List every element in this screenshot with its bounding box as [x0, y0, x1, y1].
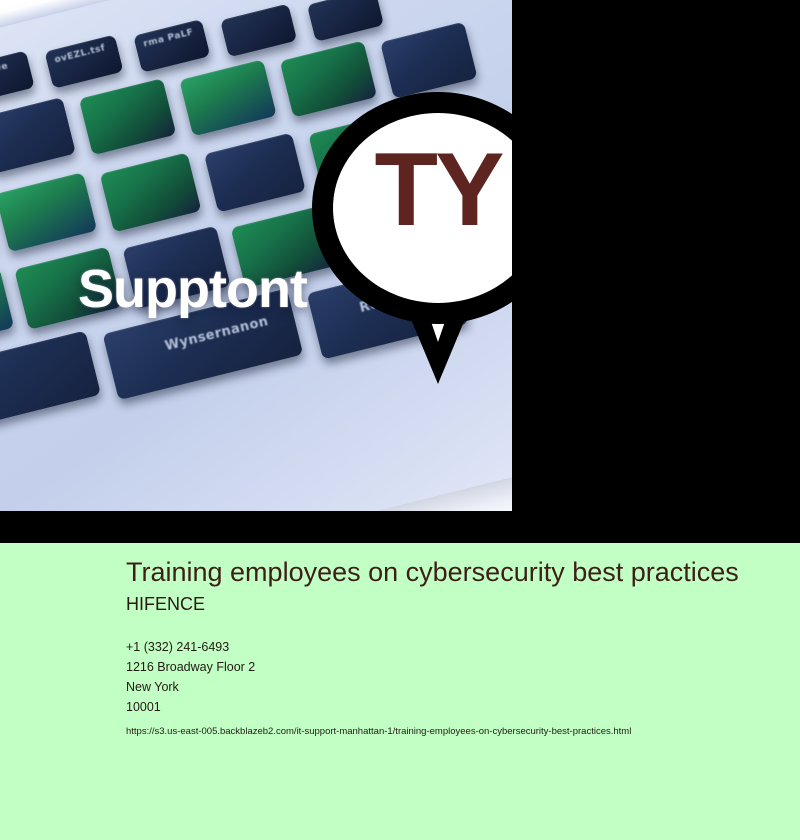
keycap-label: fc-RdUe — [0, 61, 9, 81]
keycap-label: Wynsernanon — [164, 314, 270, 354]
keyboard-key — [307, 0, 384, 42]
hero-image-area: Rufaup fc-RdUe ovEZL.tsf rma PaLF — [0, 0, 800, 543]
info-panel: Training employees on cybersecurity best… — [0, 543, 800, 840]
keycap-label: ovEZL.tsf — [54, 43, 107, 65]
contact-block: +1 (332) 241-6493 1216 Broadway Floor 2 … — [126, 637, 760, 717]
keyboard-key — [0, 172, 97, 252]
keyboard-key — [204, 133, 306, 213]
hero-overlay-word: Supptont — [78, 258, 307, 320]
letterbox-right — [512, 0, 800, 543]
keyboard-photo: Rufaup fc-RdUe ovEZL.tsf rma PaLF — [0, 0, 512, 511]
info-panel-content: Training employees on cybersecurity best… — [126, 557, 760, 739]
contact-city: New York — [126, 677, 760, 697]
keycap-label: rma PaLF — [142, 27, 194, 49]
keyboard-key — [79, 78, 176, 155]
keyboard-key — [220, 4, 297, 58]
source-url[interactable]: https://s3.us-east-005.backblazeb2.com/i… — [126, 725, 760, 739]
keyboard-key — [0, 97, 76, 174]
contact-zip: 10001 — [126, 697, 760, 717]
keyboard-key — [0, 267, 14, 350]
keyboard-key — [179, 59, 276, 136]
keyboard-key — [100, 152, 202, 232]
contact-phone[interactable]: +1 (332) 241-6493 — [126, 637, 760, 657]
keyboard-key: ovEZL.tsf — [44, 34, 123, 88]
keyboard-key: fc-RdUe — [0, 50, 35, 104]
map-pin-badge: TY — [312, 92, 512, 382]
brand-name: HIFENCE — [126, 593, 760, 615]
page-root: Rufaup fc-RdUe ovEZL.tsf rma PaLF — [0, 0, 800, 840]
keyboard-key: rma PaLF — [133, 19, 210, 73]
keyboard-key — [380, 22, 477, 99]
pin-label: TY — [312, 138, 512, 242]
letterbox-bottom — [0, 511, 800, 543]
keyboard-key — [0, 330, 101, 435]
page-title: Training employees on cybersecurity best… — [126, 557, 746, 587]
contact-street: 1216 Broadway Floor 2 — [126, 657, 760, 677]
